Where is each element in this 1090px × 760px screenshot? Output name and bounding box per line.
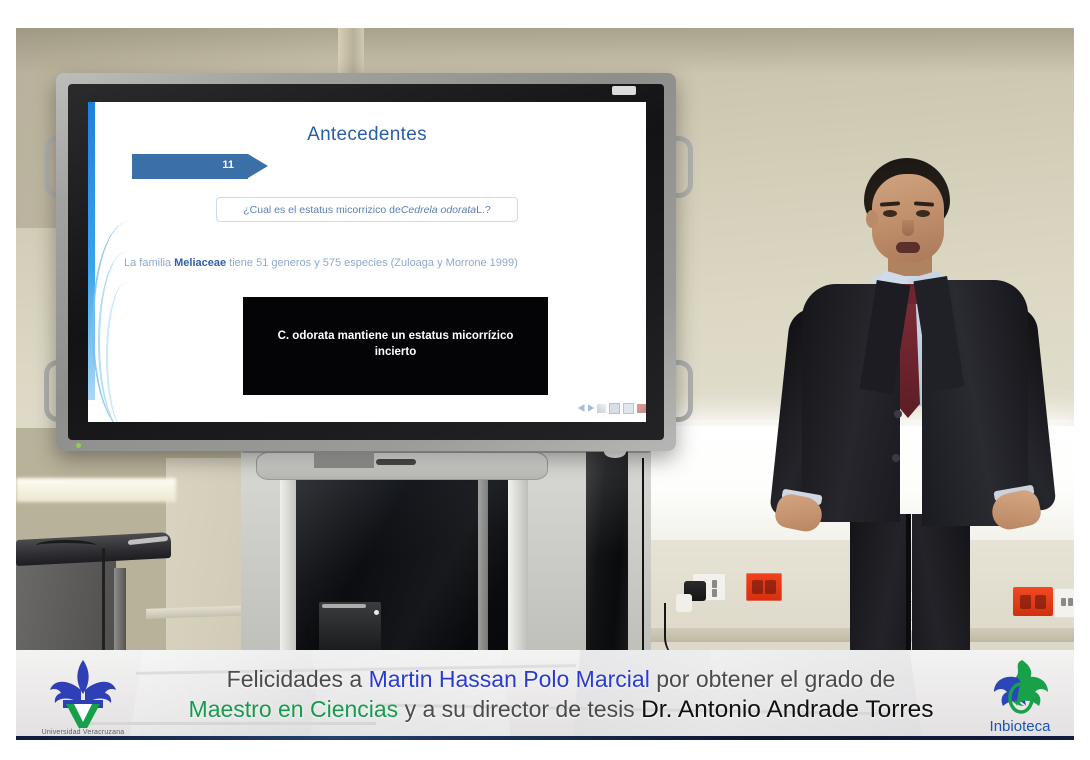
- display-power-led: [76, 443, 81, 448]
- presenter-ear: [866, 210, 878, 228]
- plug-adapter-white: [676, 594, 692, 612]
- av-cabinet-handle: [376, 459, 416, 465]
- slide-question-box: ¿Cual es el estatus micorrizico de Cedre…: [216, 197, 518, 222]
- banner-line-1: Felicidades a Martin Hassan Polo Marcial…: [227, 664, 896, 694]
- display-ir-sensor: [612, 86, 636, 95]
- lectern-cable-top: [36, 540, 96, 551]
- uv-fleur-icon: [24, 656, 142, 728]
- presenter-jacket-button-1: [894, 410, 902, 418]
- ceiling-shadow: [16, 28, 1074, 74]
- next-arrow-icon[interactable]: [588, 404, 595, 412]
- slide-question-prefix: ¿Cual es el estatus micorrizico de: [243, 204, 401, 216]
- slide-number-label: 11: [222, 159, 234, 171]
- inbioteca-logo-caption: Inbioteca: [968, 718, 1072, 735]
- slide-title: Antecedentes: [88, 124, 646, 146]
- presenter-nose: [902, 220, 914, 236]
- banner-line1-part2: por obtener el grado de: [650, 666, 896, 692]
- presenter-eye-right: [916, 210, 930, 217]
- banner-advisor-name: Dr. Antonio Andrade Torres: [641, 696, 933, 723]
- slide-icon[interactable]: [609, 403, 620, 414]
- display-screen: Antecedentes 11 ¿Cual es el estatus mico…: [88, 102, 646, 422]
- banner-degree: Maestro en Ciencias: [189, 696, 399, 722]
- pc-power-led: [374, 610, 379, 615]
- slide-body-before: La familia: [124, 257, 174, 269]
- ceiling-mount-pole: [338, 28, 364, 76]
- uv-logo-caption: Universidad Veracruzana: [28, 729, 138, 736]
- slide-body-line: La familia Meliaceae tiene 51 generos y …: [124, 257, 614, 269]
- banner-graduate-name: Martin Hassan Polo Marcial: [369, 666, 650, 692]
- slide-highlight-box: C. odorata mantiene un estatus micorrízi…: [243, 297, 548, 395]
- photo-frame: Antecedentes 11 ¿Cual es el estatus mico…: [0, 0, 1090, 760]
- banner-text-block: Felicidades a Martin Hassan Polo Marcial…: [166, 652, 956, 738]
- end-show-icon[interactable]: [637, 404, 646, 413]
- banner-line2-middle: y a su director de tesis: [398, 696, 641, 722]
- presentation-photo: Antecedentes 11 ¿Cual es el estatus mico…: [16, 28, 1074, 740]
- banner-line1-part1: Felicidades a: [227, 666, 369, 692]
- slideshow-toolbar[interactable]: [578, 400, 646, 416]
- slide-question-suffix: L.?: [476, 204, 491, 216]
- slide-canvas: Antecedentes 11 ¿Cual es el estatus mico…: [88, 102, 646, 422]
- presenter: [776, 158, 1074, 688]
- presenter-eye-left: [883, 210, 897, 217]
- strip-light: [16, 478, 176, 502]
- congratulations-banner: Felicidades a Martin Hassan Polo Marcial…: [16, 650, 1074, 740]
- inbioteca-logo: Inbioteca: [968, 656, 1072, 740]
- slide-body-family: Meliaceae: [174, 257, 226, 269]
- presenter-mouth: [896, 242, 920, 253]
- pc-tower-upper: [319, 602, 381, 654]
- inbioteca-flame-icon: [968, 656, 1072, 718]
- slide-number-badge: 11: [132, 154, 248, 179]
- slide-question-species: Cedrela odorata: [401, 204, 476, 216]
- slide-body-after: tiene 51 generos y 575 especies (Zuloaga…: [226, 257, 518, 269]
- pc-tower-highlight: [322, 604, 366, 608]
- prev-arrow-icon[interactable]: [578, 404, 585, 412]
- presenter-jacket-button-2: [892, 454, 900, 462]
- banner-bottom-strip: [16, 736, 1074, 740]
- universidad-veracruzana-logo: Universidad Veracruzana: [24, 656, 142, 740]
- menu-icon[interactable]: [623, 403, 634, 414]
- slide-highlight-text: C. odorata mantiene un estatus micorrízi…: [261, 329, 530, 360]
- pen-icon[interactable]: [597, 404, 606, 413]
- banner-line-2: Maestro en Ciencias y a su director de t…: [189, 694, 934, 726]
- av-cabinet-valance: [256, 452, 548, 480]
